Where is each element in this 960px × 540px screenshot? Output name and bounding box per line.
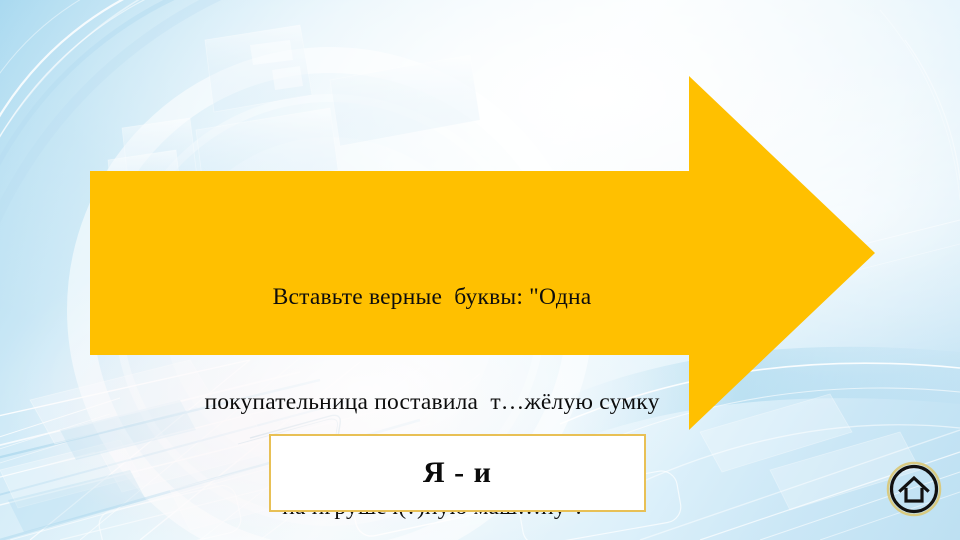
home-icon bbox=[886, 461, 942, 517]
answer-box[interactable]: Я - и bbox=[269, 434, 646, 512]
home-button[interactable] bbox=[886, 461, 942, 517]
slide-canvas: Вставьте верные буквы: "Одна покупательн… bbox=[0, 0, 960, 540]
answer-text: Я - и bbox=[423, 456, 492, 490]
question-line-1: Вставьте верные буквы: "Одна bbox=[152, 280, 712, 315]
question-line-2: покупательница поставила т…жёлую сумку bbox=[152, 385, 712, 420]
